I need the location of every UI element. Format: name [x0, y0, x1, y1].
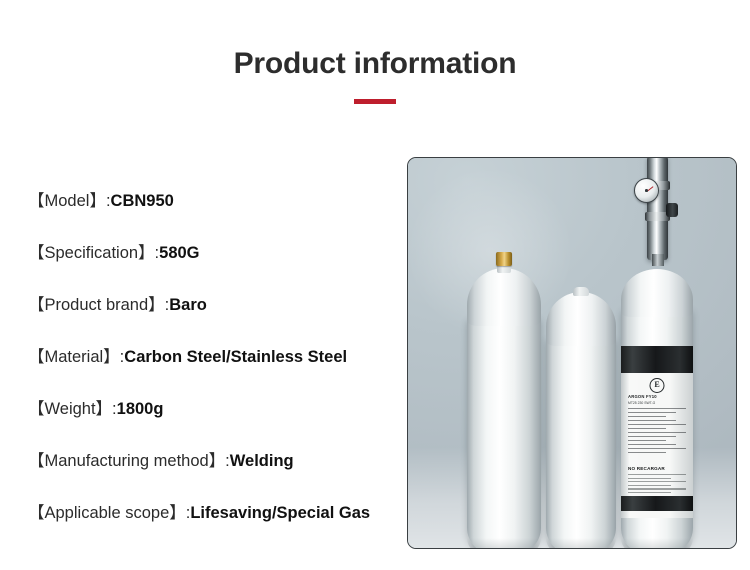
spec-label: 【Applicable scope】:: [28, 504, 190, 522]
gas-cylinder-left: [467, 252, 541, 549]
gas-cylinder-middle: [546, 282, 616, 549]
page-title: Product information: [0, 46, 750, 82]
spec-row-specification: 【Specification】:580G: [28, 242, 398, 294]
spec-label: 【Model】:: [28, 192, 111, 210]
regulator-knob: [666, 203, 678, 217]
cylinder-body: [546, 336, 616, 549]
spec-label: 【Weight】:: [28, 400, 117, 418]
spec-value: Carbon Steel/Stainless Steel: [124, 348, 347, 366]
cylinder-base-shade: [467, 538, 541, 549]
cylinder-dome: [467, 268, 541, 326]
spec-row-manufacturing-method: 【Manufacturing method】:Welding: [28, 450, 398, 502]
regulator-barrel: [647, 157, 668, 260]
cylinder-dome: [621, 269, 693, 317]
label-warning-text: NO RECARGAR: [628, 466, 665, 471]
label-body-text: [628, 408, 686, 456]
spec-value: Welding: [230, 452, 294, 470]
specification-list: 【Model】:CBN950 【Specification】:580G 【Pro…: [28, 190, 398, 554]
label-subtitle: MT25 230 SWT-G: [628, 401, 655, 405]
spec-label: 【Product brand】:: [28, 296, 169, 314]
label-logo-icon: E: [650, 378, 665, 393]
cylinder-base-shade: [621, 538, 693, 549]
product-information-page: Product information 【Model】:CBN950 【Spec…: [0, 0, 750, 570]
label-black-band-top: [621, 346, 693, 373]
label-black-band-bottom: [621, 496, 693, 511]
label-title: ARGON FY10: [628, 394, 657, 399]
pressure-gauge-icon: [634, 178, 659, 203]
cylinder-body: [467, 316, 541, 549]
spec-label: 【Manufacturing method】:: [28, 452, 230, 470]
spec-label: 【Specification】:: [28, 244, 159, 262]
spec-value: 580G: [159, 244, 199, 262]
cylinder-base-shade: [546, 538, 616, 549]
pressure-regulator: [634, 157, 680, 264]
title-accent-rule: [354, 99, 396, 104]
spec-row-product-brand: 【Product brand】:Baro: [28, 294, 398, 346]
gas-cylinder-right: E ARGON FY10 MT25 230 SWT-G NO RECARGAR: [621, 254, 693, 549]
label-footnote-text: [628, 474, 686, 495]
spec-value: CBN950: [111, 192, 174, 210]
cylinder-dome: [546, 292, 616, 346]
spec-value: Lifesaving/Special Gas: [190, 504, 370, 522]
cylinder-product-label: E ARGON FY10 MT25 230 SWT-G NO RECARGAR: [621, 346, 693, 518]
photo-backdrop: E ARGON FY10 MT25 230 SWT-G NO RECARGAR: [408, 158, 736, 548]
spec-row-material: 【Material】:Carbon Steel/Stainless Steel: [28, 346, 398, 398]
spec-row-weight: 【Weight】:1800g: [28, 398, 398, 450]
brass-valve-icon: [496, 252, 512, 266]
spec-row-applicable-scope: 【Applicable scope】:Lifesaving/Special Ga…: [28, 502, 398, 554]
page-header: Product information: [0, 46, 750, 104]
spec-value: Baro: [169, 296, 207, 314]
spec-row-model: 【Model】:CBN950: [28, 190, 398, 242]
product-photo: E ARGON FY10 MT25 230 SWT-G NO RECARGAR: [407, 157, 737, 549]
cylinder-neck: [573, 287, 589, 296]
regulator-stem: [652, 254, 664, 266]
spec-label: 【Material】:: [28, 348, 124, 366]
spec-value: 1800g: [117, 400, 164, 418]
